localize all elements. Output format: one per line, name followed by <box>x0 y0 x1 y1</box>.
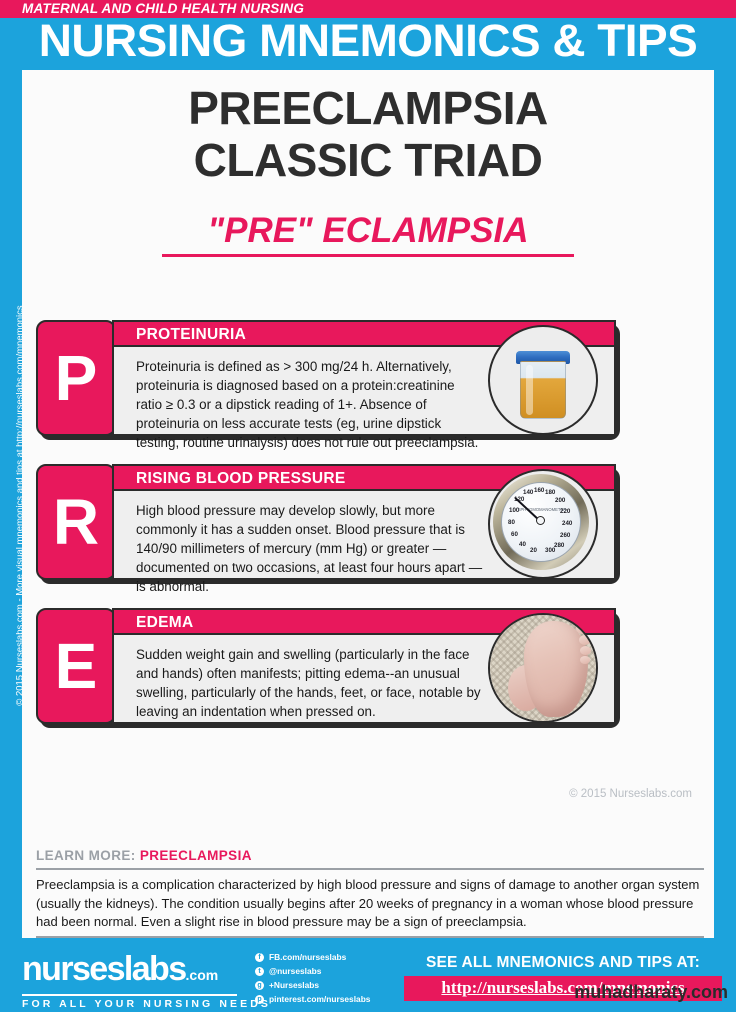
social-label: pinterest.com/nurseslabs <box>269 994 370 1004</box>
gauge-tick-260: 260 <box>560 532 570 539</box>
logo-suffix: .com <box>186 967 219 983</box>
page-title-line1: PREECLAMPSIA <box>22 82 714 134</box>
page-title-line2: CLASSIC TRIAD <box>22 134 714 186</box>
letter-glyph: E <box>55 634 98 698</box>
see-all-label: SEE ALL MNEMONICS AND TIPS AT: <box>404 954 722 972</box>
logo-divider <box>22 994 237 996</box>
logo-wordmark: nurseslabs.com <box>22 952 271 992</box>
banner: NURSING MNEMONICS & TIPS <box>0 18 736 70</box>
mnemonic-underline <box>162 254 574 257</box>
swollen-foot-edema-icon <box>488 613 598 723</box>
learn-more-header: LEARN MORE: PREECLAMPSIA <box>36 848 252 863</box>
watermark: muhadharaty.com <box>574 982 728 1003</box>
left-vertical-rail: © 2015 Nurseslabs.com - More visual mnem… <box>0 70 22 938</box>
google-plus-icon: g <box>255 981 264 990</box>
social-label: @nurseslabs <box>269 966 321 976</box>
letter-glyph: P <box>55 346 98 410</box>
social-link-facebook[interactable]: f FB.com/nurseslabs <box>255 951 405 964</box>
social-link-twitter[interactable]: t @nurseslabs <box>255 965 405 978</box>
letter-badge-r: R <box>36 464 116 580</box>
toe-1 <box>576 623 590 634</box>
nurseslabs-logo[interactable]: nurseslabs.com FOR ALL YOUR NURSING NEED… <box>22 952 271 1010</box>
gauge-tick-140: 140 <box>523 489 533 496</box>
gauge-brand-label: SPHYGMOMANOMETER <box>513 507 571 512</box>
learn-more-label: LEARN MORE: <box>36 848 136 863</box>
card-heading-label: PROTEINURIA <box>136 326 246 344</box>
cup-shine <box>526 365 533 415</box>
facebook-icon: f <box>255 953 264 962</box>
infographic-poster: MATERNAL AND CHILD HEALTH NURSING NURSIN… <box>0 0 736 1012</box>
toe-2 <box>579 635 591 645</box>
card-heading-label: RISING BLOOD PRESSURE <box>136 470 346 488</box>
social-label: +Nurseslabs <box>269 980 319 990</box>
gauge-tick-180: 180 <box>545 489 555 496</box>
inline-copyright: © 2015 Nurseslabs.com <box>569 788 692 800</box>
page-title: PREECLAMPSIA CLASSIC TRIAD <box>22 82 714 186</box>
gauge-tick-200: 200 <box>555 497 565 504</box>
social-link-google-plus[interactable]: g +Nurseslabs <box>255 979 405 992</box>
content-area: PREECLAMPSIA CLASSIC TRIAD "PRE" ECLAMPS… <box>22 70 714 938</box>
card-heading-label: EDEMA <box>136 614 193 632</box>
social-links: f FB.com/nurseslabs t @nurseslabs g +Nur… <box>255 951 405 1007</box>
mnemonic-headline: "PRE" ECLAMPSIA <box>22 210 714 252</box>
gauge-tick-40: 40 <box>519 541 526 548</box>
gauge-tick-20: 20 <box>530 547 537 554</box>
gauge-tick-240: 240 <box>562 520 572 527</box>
gauge-tick-280: 280 <box>554 542 564 549</box>
learn-more-body: Preeclampsia is a complication character… <box>36 876 704 932</box>
gauge-tick-80: 80 <box>508 519 515 526</box>
logo-main: nurseslabs <box>22 950 186 988</box>
gauge-tick-160: 160 <box>534 487 544 494</box>
gauge-center-pin <box>536 516 545 525</box>
letter-badge-e: E <box>36 608 116 724</box>
logo-tagline: FOR ALL YOUR NURSING NEEDS <box>22 998 271 1010</box>
social-label: FB.com/nurseslabs <box>269 952 346 962</box>
toe-3 <box>580 646 591 655</box>
banner-title: NURSING MNEMONICS & TIPS <box>0 13 736 69</box>
gauge-tick-60: 60 <box>511 531 518 538</box>
learn-more-divider-top <box>36 868 704 870</box>
letter-badge-p: P <box>36 320 116 436</box>
gauge-tick-300: 300 <box>545 547 555 554</box>
right-vertical-rail <box>714 70 736 938</box>
letter-glyph: R <box>53 490 99 554</box>
pinterest-icon: p <box>255 995 264 1004</box>
twitter-icon: t <box>255 967 264 976</box>
toe-4 <box>580 656 590 664</box>
social-link-pinterest[interactable]: p pinterest.com/nurseslabs <box>255 993 405 1006</box>
sphygmomanometer-gauge-icon: 160 140 180 120 200 100 220 80 240 60 26… <box>488 469 598 579</box>
learn-more-topic: PREECLAMPSIA <box>140 848 252 863</box>
urine-specimen-cup-icon <box>488 325 598 435</box>
